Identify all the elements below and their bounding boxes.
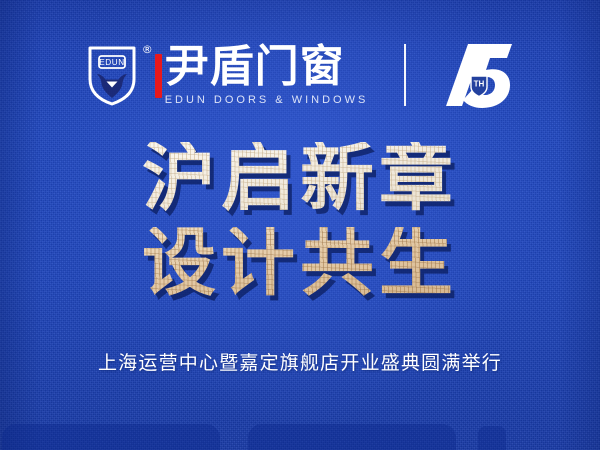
bottom-card-left <box>2 424 220 450</box>
headline-block: 沪启新章 设计共生 <box>0 142 600 301</box>
brand-accent-bar <box>155 54 162 98</box>
subtitle-text: 上海运营中心暨嘉定旗舰店开业盛典圆满举行 <box>0 348 600 375</box>
headline-line-2: 设计共生 <box>0 227 600 300</box>
brand-lockup: EDUN ® 尹盾门窗 EDUN DOORS & WINDOWS <box>86 40 515 110</box>
edun-shield-bull-logo-icon: EDUN <box>86 43 138 107</box>
headline-line-1: 沪启新章 <box>0 142 600 215</box>
bottom-card-center <box>248 424 456 450</box>
bottom-card-right <box>478 426 506 450</box>
poster-canvas: EDUN ® 尹盾门窗 EDUN DOORS & WINDOWS <box>0 0 600 450</box>
header-divider <box>404 44 406 106</box>
brand-name-block: 尹盾门窗 EDUN DOORS & WINDOWS <box>165 45 369 106</box>
svg-text:EDUN: EDUN <box>99 58 125 67</box>
anniversary-15th-shield-icon: TH <box>438 40 514 110</box>
brand-header: EDUN ® 尹盾门窗 EDUN DOORS & WINDOWS <box>0 34 600 116</box>
brand-name-en: EDUN DOORS & WINDOWS <box>165 94 369 106</box>
registered-trademark-icon: ® <box>142 44 153 55</box>
brand-name-cn: 尹盾门窗 <box>165 45 369 89</box>
svg-text:TH: TH <box>474 80 485 89</box>
